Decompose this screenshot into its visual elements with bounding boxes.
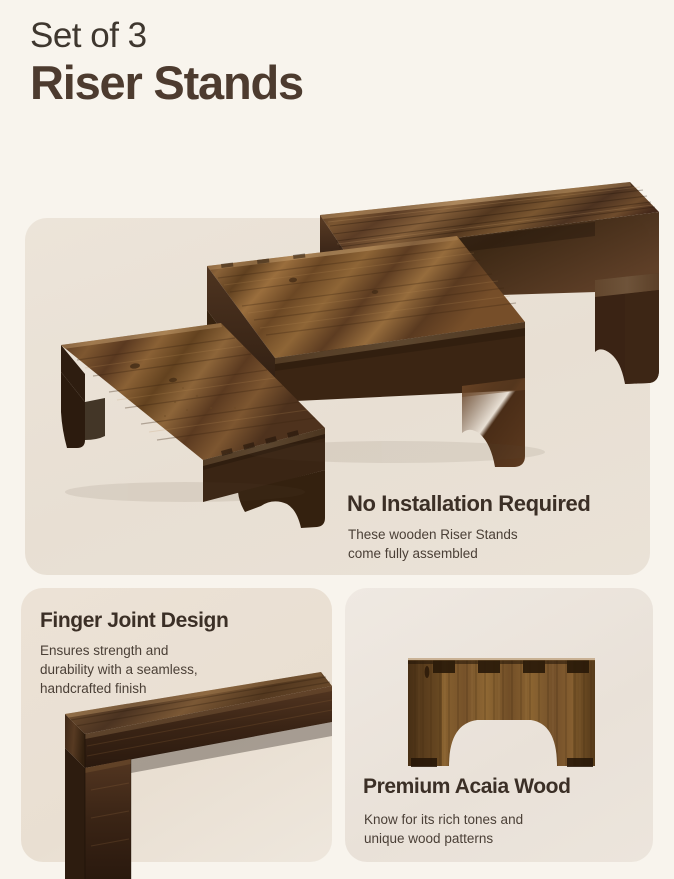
premium-wood-heading: Premium Acaia Wood — [363, 775, 571, 799]
premium-wood-body: Know for its rich tones and unique wood … — [364, 810, 523, 848]
page-header: Set of 3 Riser Stands — [30, 16, 590, 109]
hero-card-body: These wooden Riser Stands come fully ass… — [348, 525, 518, 563]
finger-joint-body: Ensures strength and durability with a s… — [40, 641, 198, 698]
infographic-page: Set of 3 Riser Stands — [0, 0, 674, 879]
page-title: Riser Stands — [30, 57, 590, 109]
hero-card — [25, 218, 650, 575]
hero-card-heading: No Installation Required — [347, 491, 590, 517]
header-eyebrow: Set of 3 — [30, 16, 590, 55]
finger-joint-heading: Finger Joint Design — [40, 609, 228, 633]
